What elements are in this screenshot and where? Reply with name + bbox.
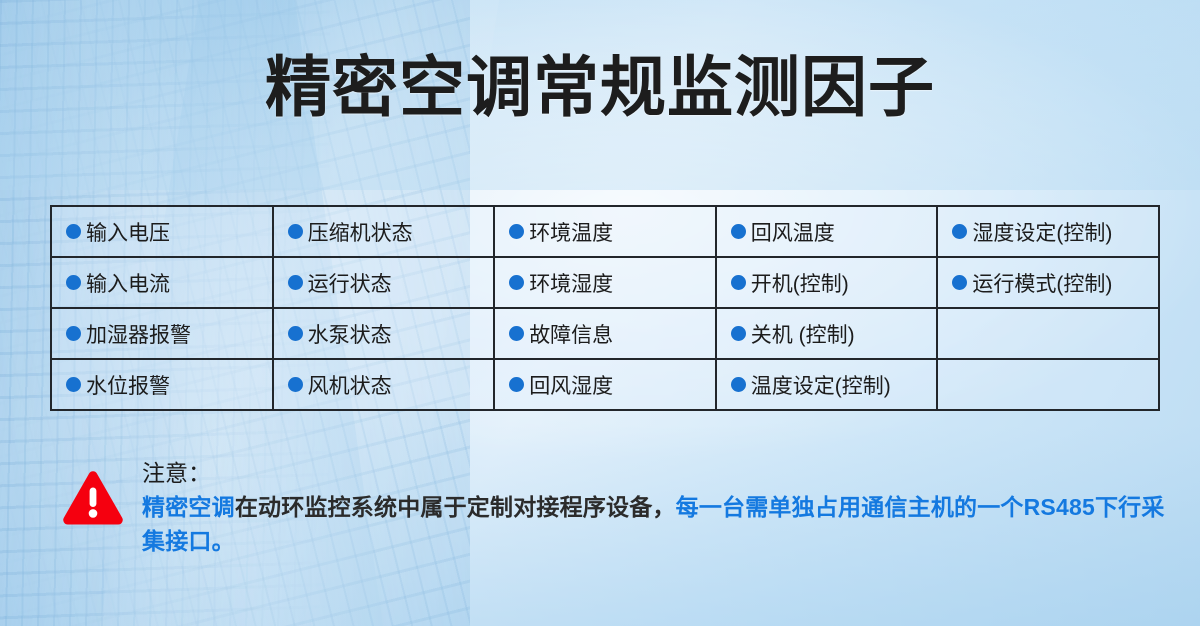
factor-label: 风机状态: [308, 370, 392, 400]
table-cell: 加湿器报警: [51, 308, 273, 359]
bullet-icon: [66, 377, 81, 392]
table-cell: 环境温度: [494, 206, 716, 257]
bullet-icon: [509, 377, 524, 392]
bullet-icon: [66, 326, 81, 341]
note-block: 注意： 精密空调在动环监控系统中属于定制对接程序设备，每一台需单独占用通信主机的…: [62, 455, 1172, 558]
table-cell: 关机 (控制): [716, 308, 938, 359]
table-row: 加湿器报警 水泵状态 故障信息 关机 (控制): [51, 308, 1159, 359]
table-row: 输入电压 压缩机状态 环境温度 回风温度 湿度设定(控制): [51, 206, 1159, 257]
warning-triangle-icon: [62, 469, 124, 527]
table-row: 输入电流 运行状态 环境湿度 开机(控制) 运行模式(控制): [51, 257, 1159, 308]
factor-label: 关机 (控制): [751, 319, 855, 349]
bullet-icon: [288, 275, 303, 290]
note-text-body: 注意： 精密空调在动环监控系统中属于定制对接程序设备，每一台需单独占用通信主机的…: [142, 455, 1172, 558]
table-body: 输入电压 压缩机状态 环境温度 回风温度 湿度设定(控制) 输入电流 运行状态 …: [51, 206, 1159, 410]
bullet-icon: [731, 326, 746, 341]
factor-label: 输入电流: [86, 268, 170, 298]
factor-label: 湿度设定(控制): [972, 217, 1112, 247]
table-row: 水位报警 风机状态 回风湿度 温度设定(控制): [51, 359, 1159, 410]
table-cell: 压缩机状态: [273, 206, 495, 257]
factor-label: 水泵状态: [308, 319, 392, 349]
table-cell: 输入电流: [51, 257, 273, 308]
table-cell: 回风温度: [716, 206, 938, 257]
bullet-icon: [509, 326, 524, 341]
note-highlight-lead: 精密空调: [142, 494, 235, 520]
factor-label: 加湿器报警: [86, 319, 191, 349]
table-cell: 回风湿度: [494, 359, 716, 410]
factor-label: 故障信息: [529, 319, 613, 349]
factor-label: 环境湿度: [529, 268, 613, 298]
bullet-icon: [731, 377, 746, 392]
bullet-icon: [66, 275, 81, 290]
bullet-icon: [288, 326, 303, 341]
bullet-icon: [288, 224, 303, 239]
table-cell: 水位报警: [51, 359, 273, 410]
table-cell: 开机(控制): [716, 257, 938, 308]
factor-label: 运行状态: [308, 268, 392, 298]
bullet-icon: [509, 275, 524, 290]
note-body-text: 在动环监控系统中属于定制对接程序设备，: [235, 494, 676, 520]
table-cell: 温度设定(控制): [716, 359, 938, 410]
table-cell: 输入电压: [51, 206, 273, 257]
table-cell-empty: [937, 308, 1159, 359]
factor-label: 环境温度: [529, 217, 613, 247]
table-cell: 环境湿度: [494, 257, 716, 308]
note-label: 注意：: [142, 457, 1172, 490]
factor-label: 输入电压: [86, 217, 170, 247]
page-title: 精密空调常规监测因子: [0, 48, 1200, 126]
factor-label: 水位报警: [86, 370, 170, 400]
table-cell: 湿度设定(控制): [937, 206, 1159, 257]
table-cell: 风机状态: [273, 359, 495, 410]
table-cell: 故障信息: [494, 308, 716, 359]
bullet-icon: [952, 224, 967, 239]
table-cell: 运行状态: [273, 257, 495, 308]
factor-label: 运行模式(控制): [972, 268, 1112, 298]
bullet-icon: [288, 377, 303, 392]
factor-label: 压缩机状态: [308, 217, 413, 247]
bullet-icon: [952, 275, 967, 290]
table-cell: 水泵状态: [273, 308, 495, 359]
bullet-icon: [509, 224, 524, 239]
bullet-icon: [731, 275, 746, 290]
monitoring-factor-table: 输入电压 压缩机状态 环境温度 回风温度 湿度设定(控制) 输入电流 运行状态 …: [50, 205, 1160, 411]
table-cell-empty: [937, 359, 1159, 410]
bullet-icon: [66, 224, 81, 239]
bullet-icon: [731, 224, 746, 239]
factor-label: 回风温度: [751, 217, 835, 247]
table-cell: 运行模式(控制): [937, 257, 1159, 308]
factor-label: 回风湿度: [529, 370, 613, 400]
poster-root: 精密空调常规监测因子 输入电压 压缩机状态 环境温度 回风温度 湿度设定(控制)…: [0, 0, 1200, 626]
note-paragraph: 精密空调在动环监控系统中属于定制对接程序设备，每一台需单独占用通信主机的一个RS…: [142, 490, 1172, 558]
factor-label: 开机(控制): [751, 268, 849, 298]
factor-label: 温度设定(控制): [751, 370, 891, 400]
